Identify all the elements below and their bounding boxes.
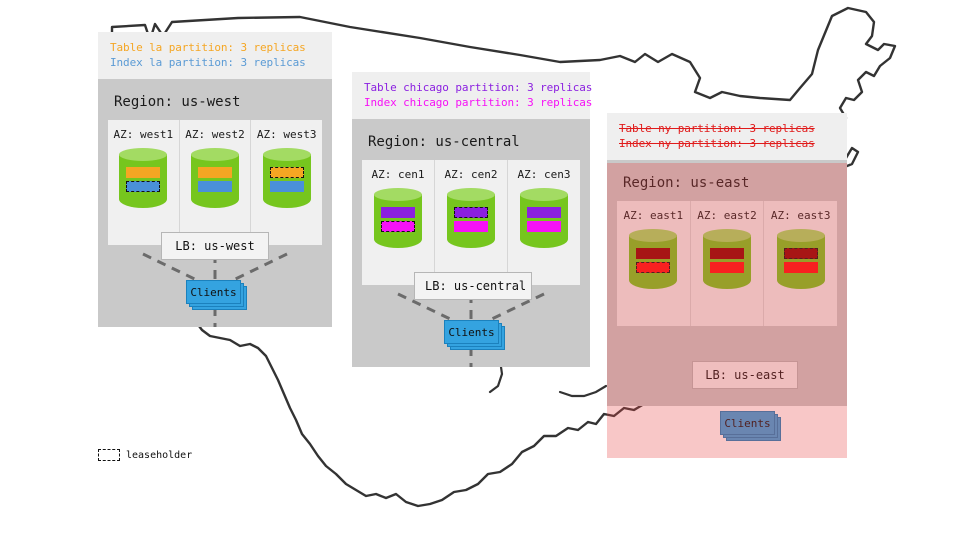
table-replica-bar-leaseholder[interactable] xyxy=(454,207,488,218)
dashed-rect-icon xyxy=(98,449,120,461)
cylinder-top xyxy=(191,148,239,161)
table-replica-bar[interactable] xyxy=(198,167,232,178)
az-cell-east2[interactable]: AZ: east2 xyxy=(691,201,765,326)
replica-bars xyxy=(126,167,160,195)
index-replica-bar-leaseholder[interactable] xyxy=(126,181,160,192)
node-cylinder-east1[interactable] xyxy=(629,229,677,295)
cylinder-top xyxy=(520,188,568,201)
node-cylinder-cen3[interactable] xyxy=(520,188,568,254)
replica-bars xyxy=(198,167,232,195)
clients-label: Clients xyxy=(444,320,499,344)
node-cylinder-east3[interactable] xyxy=(777,229,825,295)
az-label: AZ: east1 xyxy=(621,209,686,222)
region-panel-us-west: Table la partition: 3 replicas Index la … xyxy=(98,32,332,327)
az-strip-us-west: AZ: west1 AZ: west2 xyxy=(108,120,322,245)
replica-bars xyxy=(270,167,304,195)
az-cell-west3[interactable]: AZ: west3 xyxy=(251,120,322,245)
index-replica-bar[interactable] xyxy=(710,262,744,273)
cylinder-top xyxy=(703,229,751,242)
index-replica-bar[interactable] xyxy=(454,221,488,232)
az-label: AZ: west1 xyxy=(112,128,175,141)
az-cell-east1[interactable]: AZ: east1 xyxy=(617,201,691,326)
header-line-table: Table ny partition: 3 replicas xyxy=(619,122,835,137)
cylinder-top xyxy=(777,229,825,242)
region-panel-us-east: Table ny partition: 3 replicas Index ny … xyxy=(607,113,847,406)
node-cylinder-west2[interactable] xyxy=(191,148,239,214)
table-replica-bar[interactable] xyxy=(381,207,415,218)
az-label: AZ: east2 xyxy=(695,209,760,222)
cylinder-top xyxy=(119,148,167,161)
index-replica-bar-leaseholder[interactable] xyxy=(381,221,415,232)
replica-bars xyxy=(454,207,488,235)
header-line-index: Index chicago partition: 3 replicas xyxy=(364,96,578,111)
az-strip-us-east: AZ: east1 AZ: east2 xyxy=(617,201,837,326)
az-label: AZ: cen1 xyxy=(366,168,430,181)
az-cell-west1[interactable]: AZ: west1 xyxy=(108,120,180,245)
load-balancer-us-central[interactable]: LB: us-central xyxy=(414,272,532,300)
region-panel-us-central: Table chicago partition: 3 replicas Inde… xyxy=(352,72,590,367)
region-header-us-central: Table chicago partition: 3 replicas Inde… xyxy=(352,72,590,119)
node-cylinder-west3[interactable] xyxy=(263,148,311,214)
az-label: AZ: cen2 xyxy=(439,168,503,181)
az-label: AZ: cen3 xyxy=(512,168,576,181)
az-cell-cen3[interactable]: AZ: cen3 xyxy=(508,160,580,285)
index-replica-bar[interactable] xyxy=(198,181,232,192)
index-replica-bar[interactable] xyxy=(527,221,561,232)
clients-label: Clients xyxy=(720,411,775,435)
header-line-index: Index la partition: 3 replicas xyxy=(110,56,320,71)
az-label: AZ: east3 xyxy=(768,209,833,222)
cylinder-top xyxy=(374,188,422,201)
node-cylinder-west1[interactable] xyxy=(119,148,167,214)
replica-bars xyxy=(636,248,670,276)
clients-stack-us-west[interactable]: Clients xyxy=(186,280,244,306)
az-cell-east3[interactable]: AZ: east3 xyxy=(764,201,837,326)
replica-bars xyxy=(710,248,744,276)
load-balancer-us-west[interactable]: LB: us-west xyxy=(161,232,269,260)
table-replica-bar[interactable] xyxy=(527,207,561,218)
index-replica-bar-leaseholder[interactable] xyxy=(636,262,670,273)
region-header-us-west: Table la partition: 3 replicas Index la … xyxy=(98,32,332,79)
az-label: AZ: west2 xyxy=(184,128,247,141)
table-replica-bar[interactable] xyxy=(636,248,670,259)
az-cell-west2[interactable]: AZ: west2 xyxy=(180,120,252,245)
region-title: Region: us-east xyxy=(617,168,837,201)
az-cell-cen1[interactable]: AZ: cen1 xyxy=(362,160,435,285)
clients-label: Clients xyxy=(186,280,241,304)
load-balancer-us-east[interactable]: LB: us-east xyxy=(692,361,798,389)
clients-stack-us-east[interactable]: Clients xyxy=(720,411,778,437)
az-cell-cen2[interactable]: AZ: cen2 xyxy=(435,160,508,285)
region-title: Region: us-west xyxy=(108,87,322,120)
header-line-table: Table chicago partition: 3 replicas xyxy=(364,81,578,96)
header-line-index: Index ny partition: 3 replicas xyxy=(619,137,835,152)
index-replica-bar[interactable] xyxy=(784,262,818,273)
header-line-table: Table la partition: 3 replicas xyxy=(110,41,320,56)
index-replica-bar[interactable] xyxy=(270,181,304,192)
node-cylinder-east2[interactable] xyxy=(703,229,751,295)
legend-label: leaseholder xyxy=(126,450,192,461)
az-strip-us-central: AZ: cen1 AZ: cen2 xyxy=(362,160,580,285)
cylinder-top xyxy=(447,188,495,201)
table-replica-bar-leaseholder[interactable] xyxy=(270,167,304,178)
table-replica-bar[interactable] xyxy=(126,167,160,178)
table-replica-bar[interactable] xyxy=(710,248,744,259)
node-cylinder-cen2[interactable] xyxy=(447,188,495,254)
node-cylinder-cen1[interactable] xyxy=(374,188,422,254)
replica-bars xyxy=(527,207,561,235)
replica-bars xyxy=(784,248,818,276)
cylinder-top xyxy=(629,229,677,242)
diagram-canvas: Table la partition: 3 replicas Index la … xyxy=(0,0,960,540)
clients-stack-us-central[interactable]: Clients xyxy=(444,320,502,346)
cylinder-top xyxy=(263,148,311,161)
legend-leaseholder: leaseholder xyxy=(98,449,192,461)
replica-bars xyxy=(381,207,415,235)
table-replica-bar-leaseholder[interactable] xyxy=(784,248,818,259)
region-header-us-east: Table ny partition: 3 replicas Index ny … xyxy=(607,113,847,160)
az-label: AZ: west3 xyxy=(255,128,318,141)
region-title: Region: us-central xyxy=(362,127,580,160)
